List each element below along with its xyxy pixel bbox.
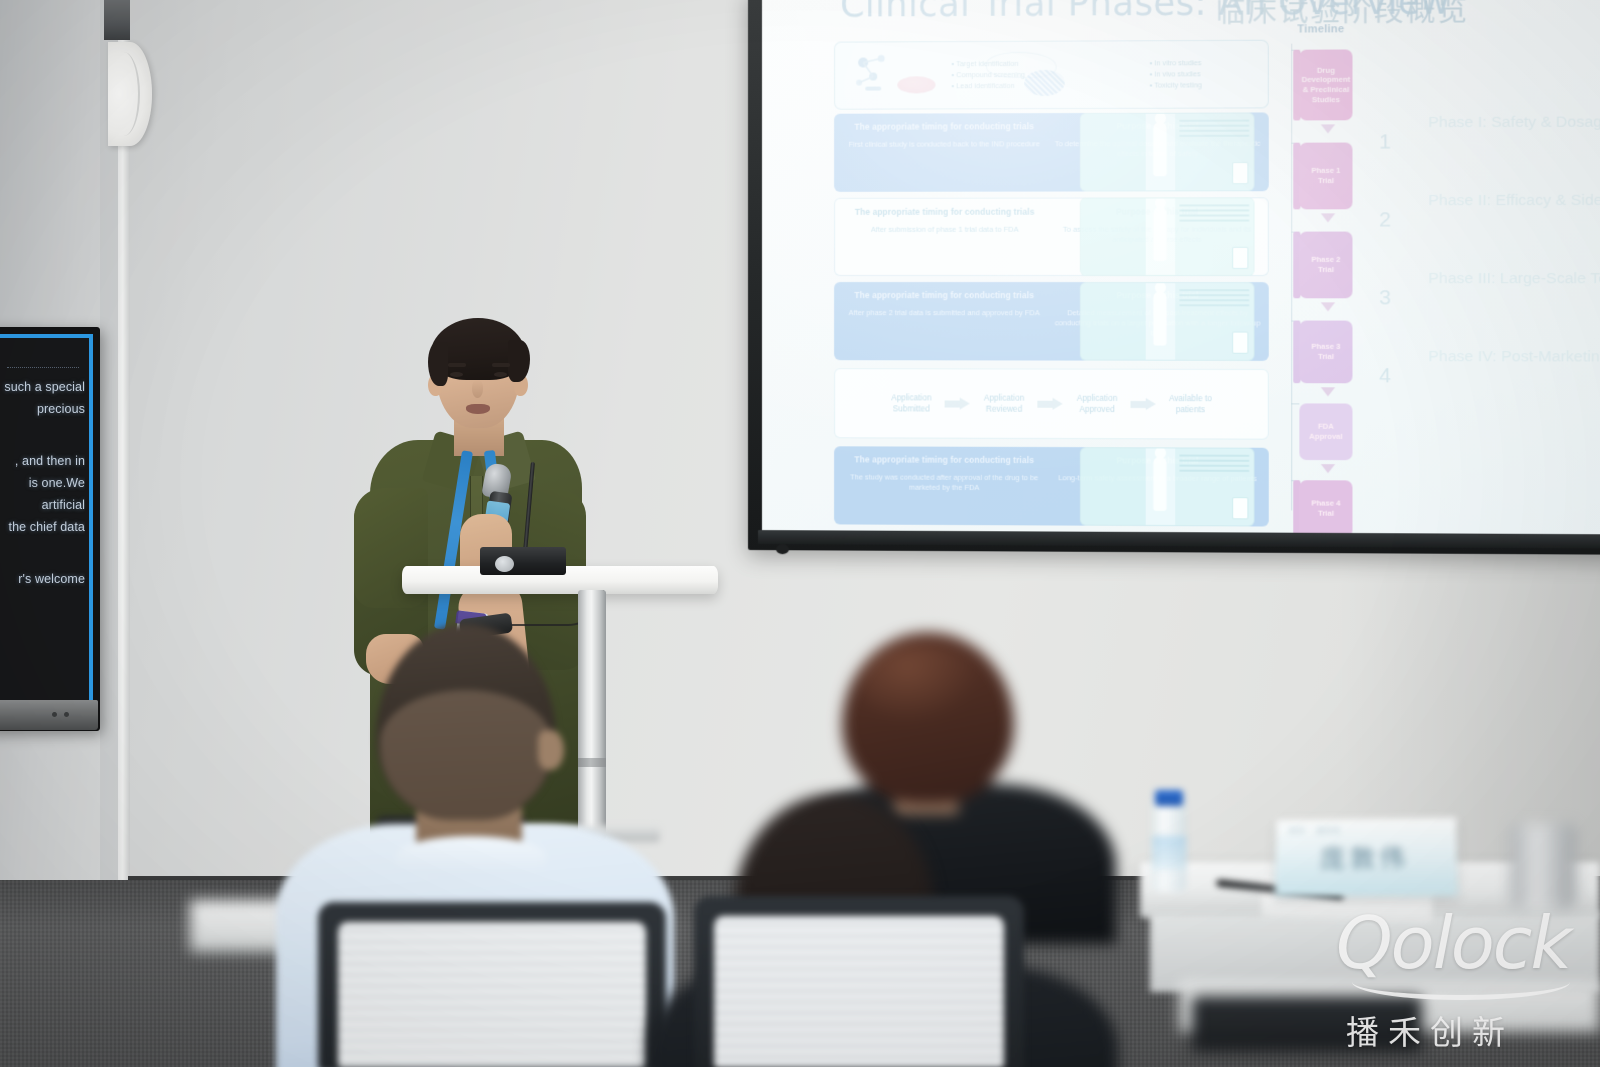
drink-cup [1510,824,1576,910]
timing-column: The appropriate timing for conducting tr… [840,454,1048,517]
monitor-spacer [1,420,85,450]
phase-label: Phase I: Safety & Dosage [1428,113,1600,132]
watermark-swoosh-icon [1352,982,1570,1000]
monitor-text-line: artificial [1,494,85,516]
phase-label: Phase IV: Post-Marketing Surveillance [1428,348,1600,367]
mini-text-lines [1179,120,1250,137]
timeline-tick [1291,403,1299,404]
office-chair-right-backrest [714,916,1004,1067]
water-bottle-label [1152,836,1186,870]
presenter-hair-side-left [428,342,448,386]
timing-heading: The appropriate timing for conducting tr… [840,290,1048,301]
monitor-text-line: , and then in [1,450,85,472]
timeline-node: Phase 4 Trial [1299,480,1352,536]
petri-dish-icon [897,76,935,93]
phase-summary-list: 1 Phase I: Safety & Dosage 2 Phase II: E… [1369,107,1600,420]
trial-visual-phase1 [1080,112,1255,191]
projection-screen-surface: Clinical Trial Phases: An Overview 临床试验阶… [762,0,1600,536]
timing-body: After submission of phase 1 trial data t… [841,225,1048,235]
timeline-node: Phase 2 Trial [1299,232,1352,299]
watermark-logo: Qolock 播禾创新 [1336,906,1592,1058]
timeline-axis [1291,44,1292,511]
person-figure-icon [1154,206,1167,260]
audience-1-scalp [380,690,552,820]
phase-number: 3 [1379,286,1391,310]
timeline-label: Timeline [1297,23,1358,35]
monitor-indicator-led [64,712,69,717]
podium-mic-base-unit [480,547,566,575]
arrow-right-icon [1131,397,1157,410]
document-icon [1232,497,1248,519]
visual-panel-right [1175,448,1254,525]
trial-visual-phase3 [1080,282,1255,361]
timeline-node: Phase 1 Trial [1299,143,1352,210]
visual-panel-left [1081,114,1146,191]
approval-step: Available to patients [1159,393,1222,415]
bullet-item: Toxicity testing [1150,79,1202,90]
presenter-eye-left [450,372,463,377]
visual-panel-person [1146,114,1175,191]
mini-text-lines [1179,204,1250,221]
timeline-arrow-icon [1321,302,1335,311]
presentation-slide: Clinical Trial Phases: An Overview 临床试验阶… [762,0,1600,536]
document-icon [1232,332,1248,354]
presenter-hair-side-right [508,340,530,382]
phase-number: 4 [1379,364,1391,388]
timeline-node: Drug Development & Preclinical Studies [1299,49,1352,120]
timeline-node: Phase 3 Trial [1299,321,1352,384]
approval-step: Application Submitted [880,392,942,414]
visual-panel-person [1146,448,1175,525]
preclinical-bullet-list: In vitro studies In vivo studies Toxicit… [1150,57,1202,90]
presenter-eye-right [494,372,507,377]
phase-number: 1 [1379,130,1391,154]
timeline-arrow-icon [1321,124,1335,133]
monitor-spacer [1,538,85,568]
projection-screen-frame: Clinical Trial Phases: An Overview 临床试验阶… [748,0,1600,555]
timeline-arrow-icon [1321,387,1335,396]
audience-3-hair-highlight [860,644,980,724]
timeline-arrow-icon [1321,213,1335,222]
watermark-brand-english: Qolock [1336,906,1592,980]
visual-panel-person [1146,283,1175,360]
monitor-top-divider [7,354,79,368]
bullet-item: In vitro studies [1150,57,1202,68]
arrow-right-icon [1037,397,1063,410]
monitor-indicator-led [52,712,57,717]
fda-approval-flow: Application Submitted Application Review… [834,368,1269,440]
arrow-right-icon [945,397,971,410]
screen-bottom-bar [758,530,1600,549]
approval-step: Application Reviewed [973,393,1036,415]
phase-label: Phase II: Efficacy & Side Effects [1428,192,1600,211]
person-figure-icon [1154,122,1167,176]
visual-panel-left [1081,198,1146,275]
presenter-mouth [466,404,490,414]
timing-body: After phase 2 trial data is submitted an… [840,308,1048,318]
placard-subtext: 职务 · 嘉宾席 [1290,826,1440,836]
mini-text-lines [1179,289,1250,306]
visual-panel-right [1175,113,1254,190]
audience-1-collar [396,836,546,876]
ceiling-mount-bracket [104,0,130,40]
visual-panel-person [1146,198,1175,275]
timing-body: The study was conducted after approval o… [840,472,1048,493]
person-figure-icon [1154,291,1167,345]
trial-visual-phase2 [1080,197,1255,276]
office-chair-left-backrest [338,922,646,1067]
molecule-icon [851,52,907,100]
placard-name-text: 庞敦伟 [1320,839,1410,876]
bullet-item: In vivo studies [1150,68,1202,79]
phase-list-item: 3 Phase III: Large-Scale Testing [1369,264,1600,342]
presenter-nose [472,380,483,398]
monitor-text-line: r's welcome [1,568,85,590]
trial-visual-phase4 [1080,447,1255,526]
timeline-node: FDA Approval [1299,403,1352,460]
presenter-eyebrow-right [492,363,510,367]
screen-foot [776,544,789,554]
timeline-column: Timeline Drug Development & Preclinical … [1279,23,1359,529]
monitor-text-line: precious [1,398,85,420]
timing-heading: The appropriate timing for conducting tr… [841,207,1048,218]
document-icon [1232,247,1248,269]
monitor-screen: such a special precious , and then in is… [0,338,89,720]
timing-body: First clinical study is conducted back t… [840,139,1048,150]
timing-column: The appropriate timing for conducting tr… [840,290,1048,352]
visual-panel-left [1081,448,1146,525]
document-icon [1232,162,1248,184]
monitor-text-line: the chief data [1,516,85,538]
podium-mic-logo-badge [495,556,514,572]
audience-1-ear [538,730,564,770]
phase-list-item: 1 Phase I: Safety & Dosage [1369,107,1600,186]
approval-step: Application Approved [1066,393,1129,415]
mini-text-lines [1179,455,1250,472]
bullet-item: Lead identification [952,80,1025,91]
monitor-text-line: is one.We [1,472,85,494]
presenter-eyebrow-left [448,363,466,367]
left-wall-monitor: such a special precious , and then in is… [0,327,100,731]
water-bottle-cap [1155,790,1183,806]
timing-column: The appropriate timing for conducting tr… [841,207,1048,267]
person-figure-icon [1154,456,1167,510]
timing-heading: The appropriate timing for conducting tr… [840,454,1048,466]
visual-panel-right [1175,198,1254,275]
timeline-arrow-icon [1321,464,1335,473]
monitor-stand [0,700,98,730]
phase-list-item: 4 Phase IV: Post-Marketing Surveillance [1369,342,1600,421]
phase-label: Phase III: Large-Scale Testing [1428,270,1600,288]
timing-column: The appropriate timing for conducting tr… [840,121,1048,184]
visual-panel-right [1175,283,1254,360]
presentation-photo-scene: such a special precious , and then in is… [0,0,1600,1067]
timing-heading: The appropriate timing for conducting tr… [840,121,1048,133]
watermark-brand-chinese: 播禾创新 [1346,1006,1514,1054]
dome-light-ring [108,52,140,136]
phase-number: 2 [1379,208,1391,232]
dna-cluster-icon [1024,70,1064,96]
discovery-preclinical-box: Target identification Compound screening… [834,40,1269,110]
monitor-text-line: such a special [1,376,85,398]
phase-list-item: 2 Phase II: Efficacy & Side Effects [1369,186,1600,264]
visual-panel-left [1081,283,1146,360]
